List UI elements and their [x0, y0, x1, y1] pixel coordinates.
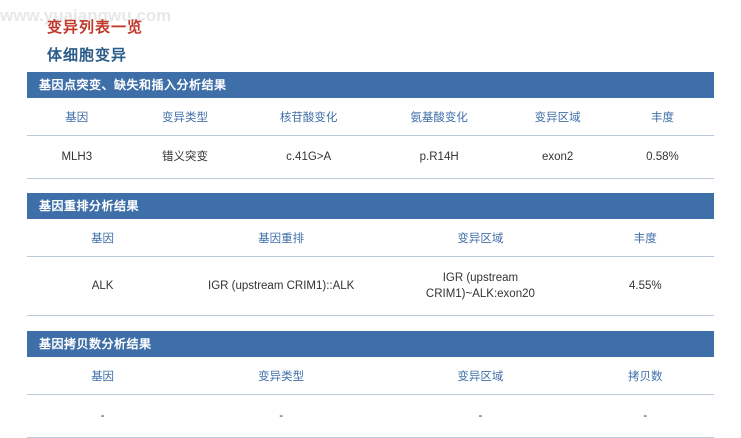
cell-gene: - [27, 395, 178, 438]
col-header-variant-type: 变异类型 [127, 98, 244, 136]
table-header-row: 基因 变异类型 变异区域 拷贝数 [27, 357, 714, 395]
col-header-nucleotide-change: 核苷酸变化 [243, 98, 374, 136]
cell-variant-region: exon2 [504, 136, 610, 179]
col-header-abundance: 丰度 [611, 98, 714, 136]
cell-gene: ALK [27, 257, 178, 316]
band-rearrangement: 基因重排分析结果 [27, 193, 714, 219]
block-spacer [27, 179, 714, 193]
block-point-mutation: 基因点突变、缺失和插入分析结果 基因 变异类型 核苷酸变化 氨基酸变化 变异区域… [27, 72, 714, 179]
table-row: - - - - [27, 395, 714, 438]
band-copy-number: 基因拷贝数分析结果 [27, 331, 714, 357]
cell-rearrangement: IGR (upstream CRIM1)::ALK [178, 257, 384, 316]
col-header-gene: 基因 [27, 98, 127, 136]
cell-abundance: 4.55% [577, 257, 714, 316]
cell-amino-acid-change: p.R14H [374, 136, 505, 179]
band-point-mutation: 基因点突变、缺失和插入分析结果 [27, 72, 714, 98]
col-header-amino-acid-change: 氨基酸变化 [374, 98, 505, 136]
col-header-gene: 基因 [27, 219, 178, 257]
col-header-variant-region: 变异区域 [384, 219, 576, 257]
col-header-variant-type: 变异类型 [178, 357, 384, 395]
cell-variant-region: - [384, 395, 576, 438]
table-header-row: 基因 变异类型 核苷酸变化 氨基酸变化 变异区域 丰度 [27, 98, 714, 136]
table-row: ALK IGR (upstream CRIM1)::ALK IGR (upstr… [27, 257, 714, 316]
col-header-gene: 基因 [27, 357, 178, 395]
cell-nucleotide-change: c.41G>A [243, 136, 374, 179]
cell-abundance: 0.58% [611, 136, 714, 179]
cell-variant-region: IGR (upstream CRIM1)~ALK:exon20 [384, 257, 576, 316]
section-title: 体细胞变异 [47, 44, 127, 65]
block-spacer [27, 316, 714, 331]
col-header-variant-region: 变异区域 [384, 357, 576, 395]
block-copy-number: 基因拷贝数分析结果 基因 变异类型 变异区域 拷贝数 - - [27, 331, 714, 438]
table-point-mutation: 基因 变异类型 核苷酸变化 氨基酸变化 变异区域 丰度 MLH3 错义突变 c.… [27, 98, 714, 179]
table-header-row: 基因 基因重排 变异区域 丰度 [27, 219, 714, 257]
page-title: 变异列表一览 [47, 16, 143, 37]
block-rearrangement: 基因重排分析结果 基因 基因重排 变异区域 丰度 ALK IGR (ups [27, 193, 714, 316]
table-row: MLH3 错义突变 c.41G>A p.R14H exon2 0.58% [27, 136, 714, 179]
col-header-copy-number: 拷贝数 [577, 357, 714, 395]
table-rearrangement: 基因 基因重排 变异区域 丰度 ALK IGR (upstream CRIM1)… [27, 219, 714, 316]
col-header-abundance: 丰度 [577, 219, 714, 257]
col-header-variant-region: 变异区域 [504, 98, 610, 136]
cell-gene: MLH3 [27, 136, 127, 179]
table-copy-number: 基因 变异类型 变异区域 拷贝数 - - - - [27, 357, 714, 438]
cell-copy-number: - [577, 395, 714, 438]
cell-variant-type: 错义突变 [127, 136, 244, 179]
col-header-rearrangement: 基因重排 [178, 219, 384, 257]
variant-tables-container: 基因点突变、缺失和插入分析结果 基因 变异类型 核苷酸变化 氨基酸变化 变异区域… [27, 72, 714, 438]
cell-variant-type: - [178, 395, 384, 438]
